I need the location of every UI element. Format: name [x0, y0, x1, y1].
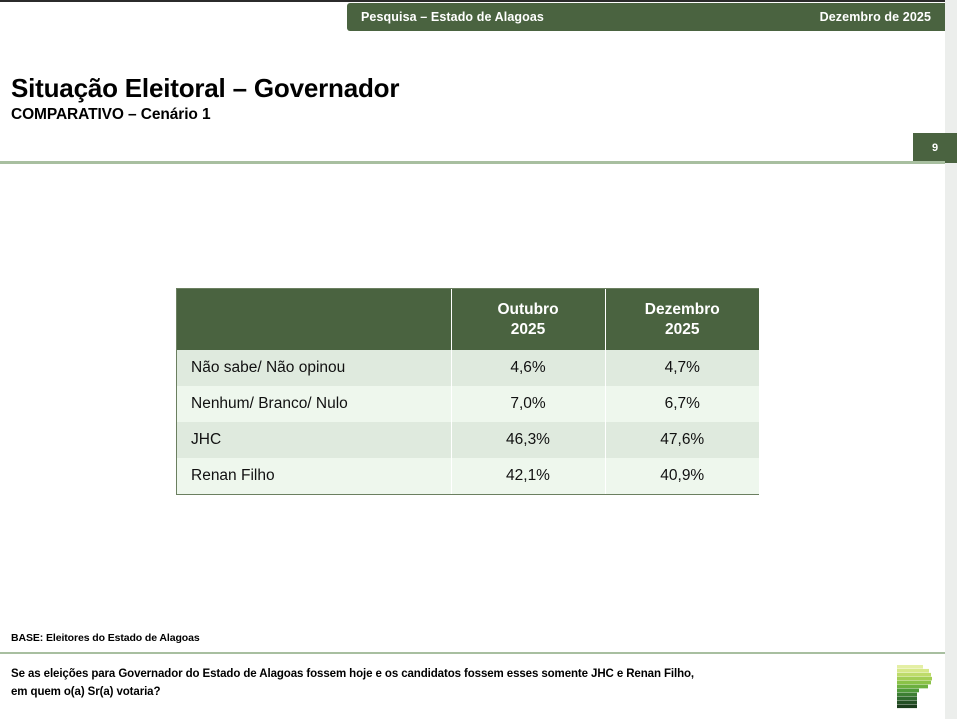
page-number-badge: 9: [913, 133, 957, 163]
title-block: Situação Eleitoral – Governador COMPARAT…: [11, 74, 711, 124]
header-outubro-year: 2025: [452, 320, 605, 339]
p-logo: [893, 663, 937, 709]
survey-question: Se as eleições para Governador do Estado…: [11, 666, 756, 702]
table-row: JHC 46,3% 47,6%: [177, 422, 759, 458]
header-dezembro-month: Dezembro: [606, 300, 760, 319]
page-number-label: 9: [932, 142, 938, 154]
row-label: JHC: [177, 422, 451, 458]
right-side-strip: [945, 0, 957, 719]
header-cell-dezembro: Dezembro 2025: [605, 289, 759, 350]
row-label: Nenhum/ Branco/ Nulo: [177, 386, 451, 422]
header-dezembro-year: 2025: [606, 320, 760, 339]
slide-banner: Pesquisa – Estado de Alagoas Dezembro de…: [347, 3, 945, 31]
row-label: Não sabe/ Não opinou: [177, 350, 451, 386]
row-value-dezembro: 47,6%: [605, 422, 759, 458]
row-value-outubro: 46,3%: [451, 422, 605, 458]
row-value-dezembro: 6,7%: [605, 386, 759, 422]
top-rule: [0, 0, 957, 2]
table-header-row: Outubro 2025 Dezembro 2025: [177, 289, 759, 350]
survey-question-line1: Se as eleições para Governador do Estado…: [11, 668, 694, 680]
row-value-outubro: 7,0%: [451, 386, 605, 422]
footer-divider: [0, 652, 945, 654]
p-logo-svg: [893, 663, 937, 709]
row-value-outubro: 42,1%: [451, 458, 605, 494]
results-table-body: Não sabe/ Não opinou 4,6% 4,7% Nenhum/ B…: [177, 350, 759, 494]
banner-survey-label: Pesquisa – Estado de Alagoas: [361, 10, 544, 24]
row-value-dezembro: 4,7%: [605, 350, 759, 386]
table-row: Não sabe/ Não opinou 4,6% 4,7%: [177, 350, 759, 386]
row-value-dezembro: 40,9%: [605, 458, 759, 494]
row-value-outubro: 4,6%: [451, 350, 605, 386]
survey-question-line2: em quem o(a) Sr(a) votaria?: [11, 686, 160, 698]
table-row: Renan Filho 42,1% 40,9%: [177, 458, 759, 494]
banner-date-label: Dezembro de 2025: [820, 10, 931, 24]
header-outubro-month: Outubro: [452, 300, 605, 319]
page-subtitle: COMPARATIVO – Cenário 1: [11, 106, 711, 124]
header-cell-category: [177, 289, 451, 350]
results-table: Outubro 2025 Dezembro 2025 Não sabe/ Não…: [177, 289, 759, 494]
page-title: Situação Eleitoral – Governador: [11, 74, 711, 103]
results-table-head: Outubro 2025 Dezembro 2025: [177, 289, 759, 350]
table-row: Nenhum/ Branco/ Nulo 7,0% 6,7%: [177, 386, 759, 422]
header-divider: [0, 161, 945, 164]
results-table-container: Outubro 2025 Dezembro 2025 Não sabe/ Não…: [176, 288, 759, 495]
base-note: BASE: Eleitores do Estado de Alagoas: [11, 632, 200, 644]
row-label: Renan Filho: [177, 458, 451, 494]
header-cell-outubro: Outubro 2025: [451, 289, 605, 350]
